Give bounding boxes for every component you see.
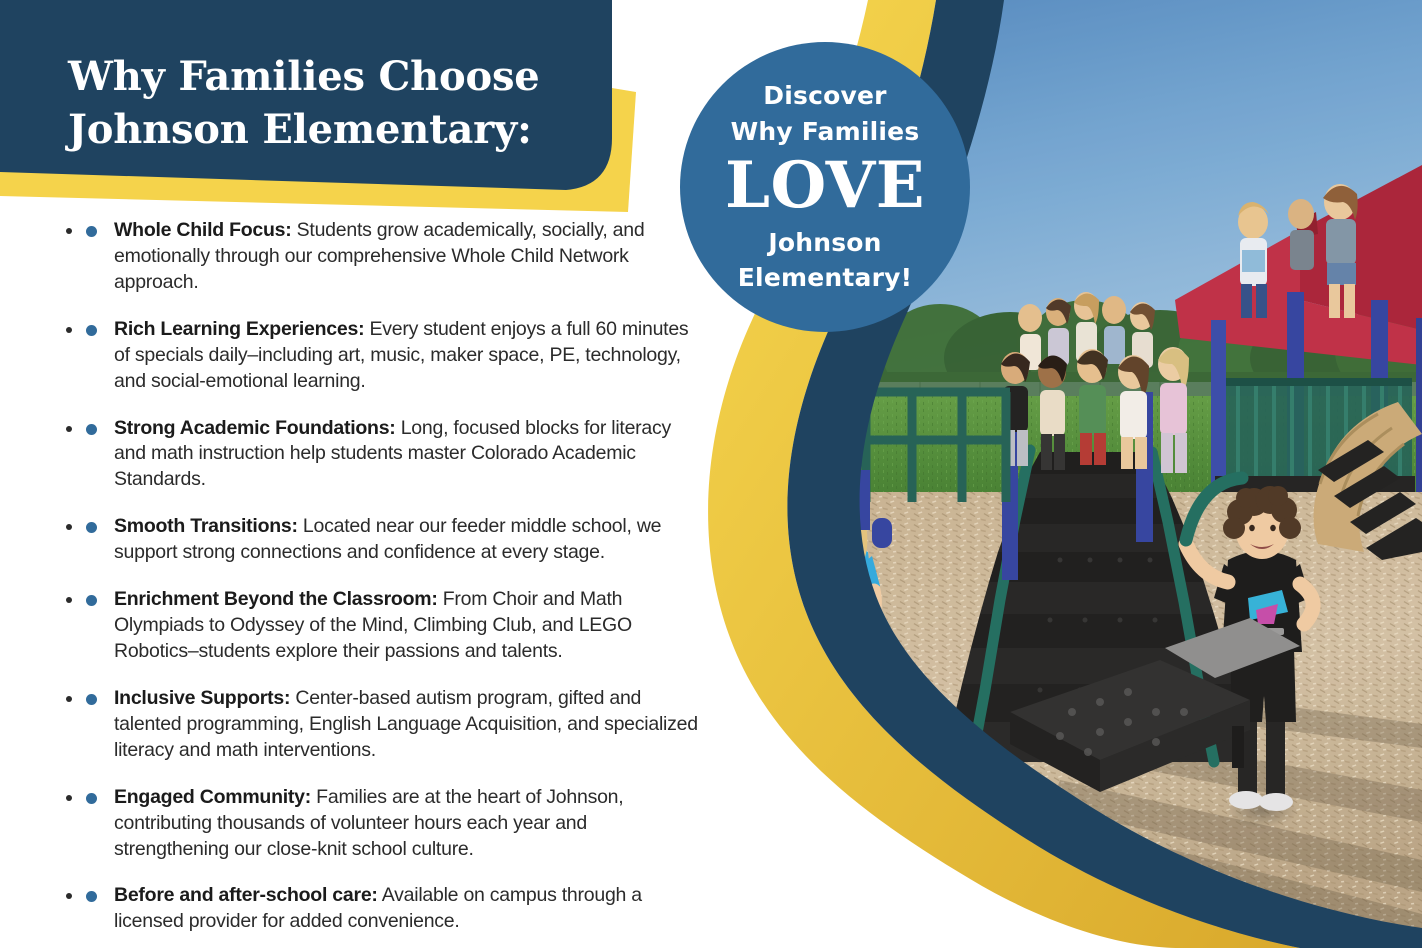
feature-label: Smooth Transitions: bbox=[114, 515, 298, 537]
feature-item: Inclusive Supports: Center-based autism … bbox=[84, 686, 704, 764]
feature-label: Before and after-school care: bbox=[114, 884, 378, 906]
bullet-dot-icon bbox=[86, 595, 97, 606]
feature-label: Inclusive Supports: bbox=[114, 687, 290, 709]
feature-label: Rich Learning Experiences: bbox=[114, 318, 364, 340]
bullet-dot-icon bbox=[86, 522, 97, 533]
feature-label: Enrichment Beyond the Classroom: bbox=[114, 588, 438, 610]
feature-item: Before and after-school care: Available … bbox=[84, 883, 704, 935]
badge-line-discover: Discover bbox=[763, 78, 886, 114]
header-navy-banner bbox=[0, 0, 612, 190]
feature-label: Strong Academic Foundations: bbox=[114, 417, 396, 439]
bullet-dot-icon bbox=[86, 694, 97, 705]
feature-item: Rich Learning Experiences: Every student… bbox=[84, 317, 704, 395]
love-badge: Discover Why Families LOVE Johnson Eleme… bbox=[680, 42, 970, 332]
badge-line-love: LOVE bbox=[725, 153, 925, 218]
feature-label: Engaged Community: bbox=[114, 786, 311, 808]
bullet-dot-icon bbox=[86, 793, 97, 804]
badge-line-why-families: Why Families bbox=[731, 114, 920, 150]
flyer-page: Why Families Choose Johnson Elementary: … bbox=[0, 0, 1422, 948]
badge-line-elementary: Elementary! bbox=[738, 260, 912, 296]
badge-line-johnson: Johnson bbox=[768, 225, 881, 261]
feature-item: Smooth Transitions: Located near our fee… bbox=[84, 514, 704, 566]
feature-label: Whole Child Focus: bbox=[114, 219, 291, 241]
feature-list: Whole Child Focus: Students grow academi… bbox=[84, 218, 704, 935]
feature-item: Enrichment Beyond the Classroom: From Ch… bbox=[84, 587, 704, 665]
feature-item: Engaged Community: Families are at the h… bbox=[84, 785, 704, 863]
feature-item: Strong Academic Foundations: Long, focus… bbox=[84, 416, 704, 494]
feature-item: Whole Child Focus: Students grow academi… bbox=[84, 218, 704, 296]
bullet-dot-icon bbox=[86, 325, 97, 336]
bullet-dot-icon bbox=[86, 891, 97, 902]
bullet-dot-icon bbox=[86, 424, 97, 435]
bullet-dot-icon bbox=[86, 226, 97, 237]
